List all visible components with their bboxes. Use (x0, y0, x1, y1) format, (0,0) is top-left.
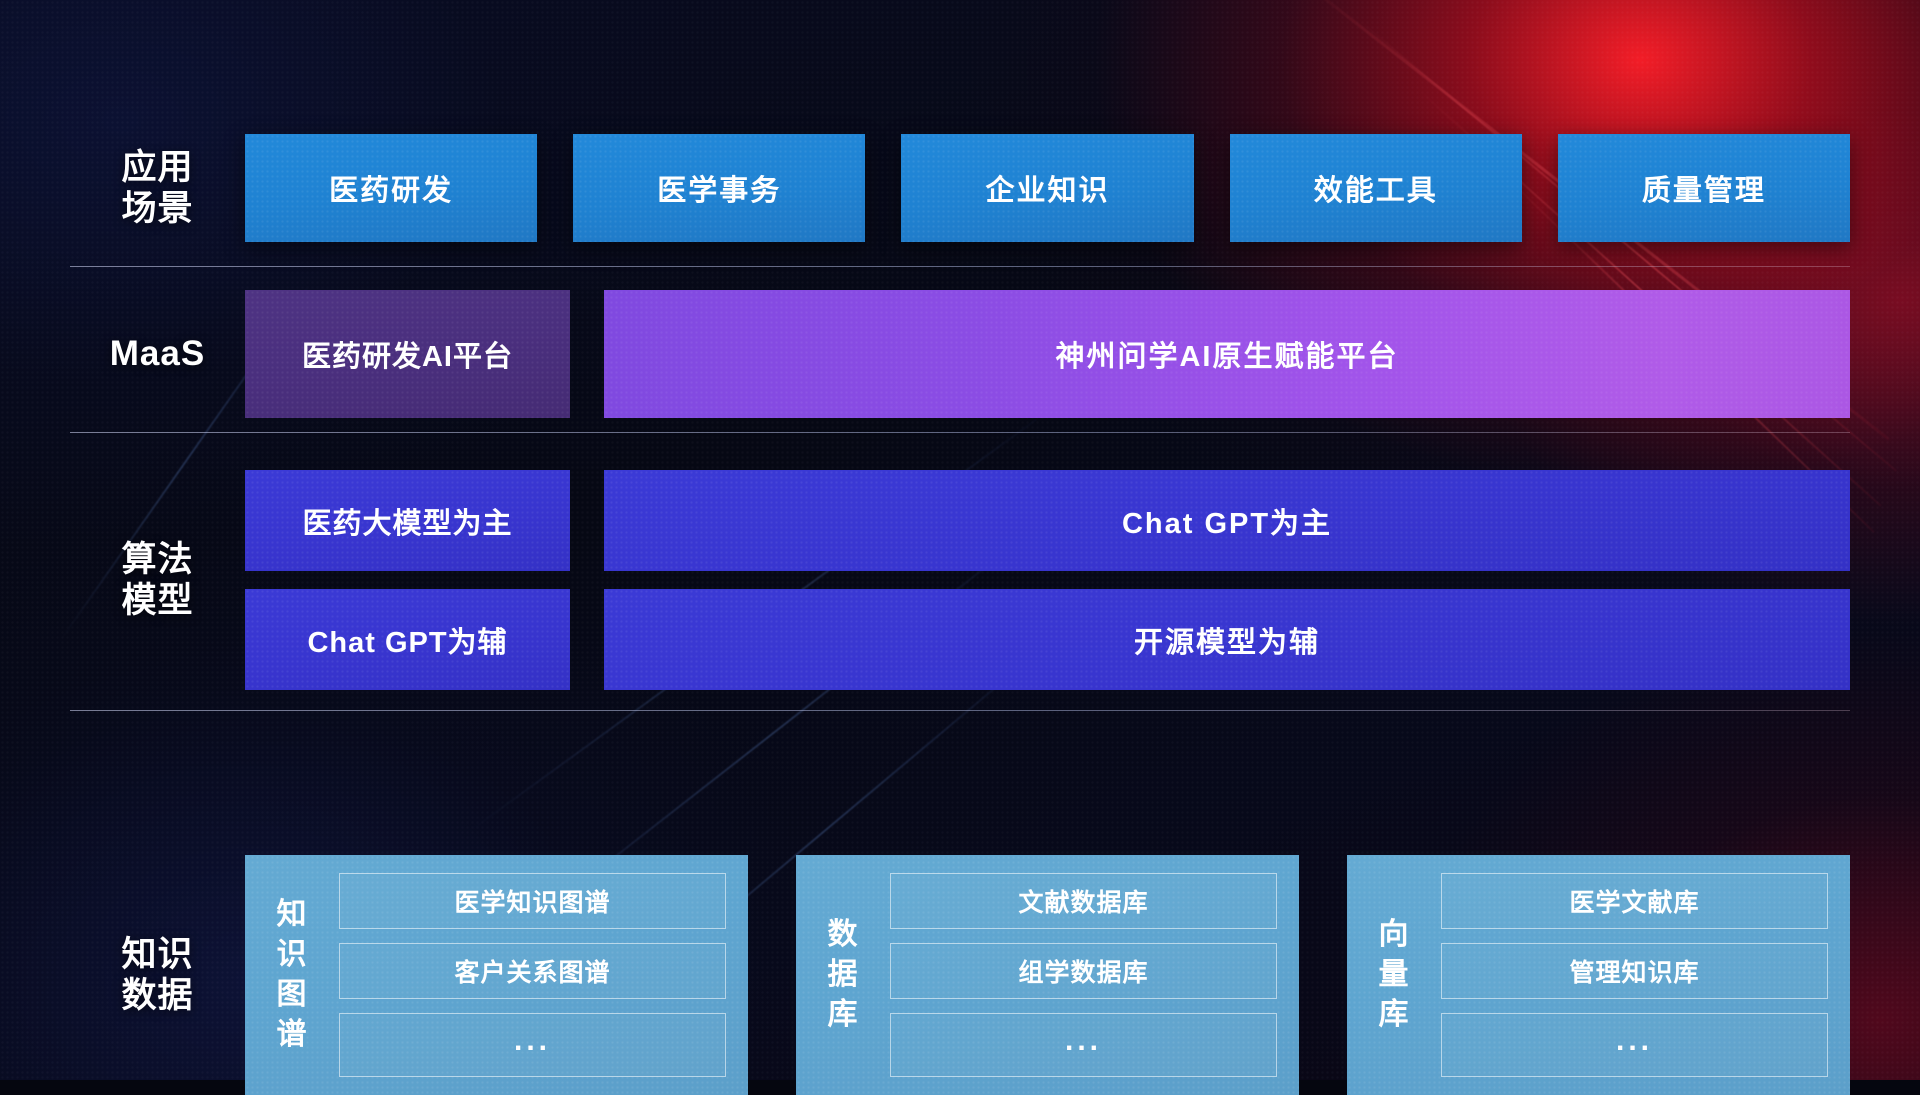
knowledge-item[interactable]: 客户关系图谱 (339, 943, 726, 999)
knowledge-item-list: 文献数据库 组学数据库 ... (890, 873, 1277, 1077)
app-card-drug-rd[interactable]: 医药研发 (245, 134, 537, 242)
knowledge-item-label: 管理知识库 (1569, 953, 1699, 989)
knowledge-item-label: 文献数据库 (1018, 883, 1148, 919)
knowledge-item-label: 组学数据库 (1018, 953, 1148, 989)
row-algorithm-models: 算法 模型 医药大模型为主 Chat GPT为主 Chat GPT为辅 开源模型… (0, 460, 1920, 700)
divider-maas-algo (70, 432, 1850, 433)
knowledge-group-database: 数据库 文献数据库 组学数据库 ... (796, 855, 1299, 1095)
knowledge-item-label: 客户关系图谱 (454, 953, 610, 989)
knowledge-group-vector-store: 向量库 医学文献库 管理知识库 ... (1347, 855, 1850, 1095)
knowledge-group-title: 知识图谱 (263, 895, 321, 1056)
row-label-algorithm-models: 算法 模型 (70, 539, 245, 622)
knowledge-item-label: 医学文献库 (1569, 883, 1699, 919)
app-card-enterprise-knowledge[interactable]: 企业知识 (901, 134, 1193, 242)
knowledge-item-label: 医学知识图谱 (454, 883, 610, 919)
knowledge-item-more[interactable]: ... (1441, 1013, 1828, 1077)
app-card-label: 效能工具 (1314, 167, 1438, 209)
knowledge-item-more[interactable]: ... (890, 1013, 1277, 1077)
knowledge-item-more[interactable]: ... (339, 1013, 726, 1077)
maas-card-drug-rd-ai-platform[interactable]: 医药研发AI平台 (245, 290, 570, 418)
maas-grid: 医药研发AI平台 神州问学AI原生赋能平台 (245, 290, 1850, 418)
algo-card-chatgpt-secondary[interactable]: Chat GPT为辅 (245, 589, 570, 690)
algorithm-row-primary: 医药大模型为主 Chat GPT为主 (245, 470, 1850, 571)
knowledge-item-list: 医学文献库 管理知识库 ... (1441, 873, 1828, 1077)
maas-card-label: 医药研发AI平台 (302, 333, 513, 375)
algo-card-label: 开源模型为辅 (1134, 619, 1320, 661)
maas-card-label: 神州问学AI原生赋能平台 (1055, 333, 1398, 375)
divider-algo-knowledge (70, 710, 1850, 711)
algo-card-pharma-llm-primary[interactable]: 医药大模型为主 (245, 470, 570, 571)
knowledge-item[interactable]: 医学文献库 (1441, 873, 1828, 929)
row-label-maas: MaaS (70, 333, 245, 374)
knowledge-group-grid: 知识图谱 医学知识图谱 客户关系图谱 ... 数据库 文献数据库 组学数据库 .… (245, 855, 1850, 1095)
knowledge-group-title: 数据库 (814, 915, 872, 1036)
knowledge-group-knowledge-graph: 知识图谱 医学知识图谱 客户关系图谱 ... (245, 855, 748, 1095)
algo-card-label: 医药大模型为主 (302, 500, 512, 542)
knowledge-item[interactable]: 管理知识库 (1441, 943, 1828, 999)
knowledge-item-list: 医学知识图谱 客户关系图谱 ... (339, 873, 726, 1077)
knowledge-item-label: ... (1616, 1024, 1653, 1058)
divider-apps-maas (70, 266, 1850, 267)
algo-card-opensource-secondary[interactable]: 开源模型为辅 (604, 589, 1850, 690)
app-card-medical-affairs[interactable]: 医学事务 (573, 134, 865, 242)
knowledge-item[interactable]: 文献数据库 (890, 873, 1277, 929)
application-card-grid: 医药研发 医学事务 企业知识 效能工具 质量管理 (245, 134, 1850, 242)
knowledge-item-label: ... (514, 1024, 551, 1058)
knowledge-group-title: 向量库 (1365, 915, 1423, 1036)
app-card-label: 医药研发 (329, 167, 453, 209)
knowledge-item[interactable]: 医学知识图谱 (339, 873, 726, 929)
row-knowledge-data: 知识 数据 知识图谱 医学知识图谱 客户关系图谱 ... 数据库 文献数据库 组… (0, 855, 1920, 1095)
app-card-label: 企业知识 (986, 167, 1110, 209)
row-label-knowledge-data: 知识 数据 (70, 934, 245, 1017)
app-card-efficiency-tools[interactable]: 效能工具 (1230, 134, 1522, 242)
algo-card-label: Chat GPT为主 (1122, 500, 1332, 542)
algo-card-label: Chat GPT为辅 (307, 619, 507, 661)
row-label-application-scenarios: 应用 场景 (70, 147, 245, 230)
algorithm-row-secondary: Chat GPT为辅 开源模型为辅 (245, 589, 1850, 690)
app-card-label: 质量管理 (1642, 167, 1766, 209)
algo-card-chatgpt-primary[interactable]: Chat GPT为主 (604, 470, 1850, 571)
knowledge-item[interactable]: 组学数据库 (890, 943, 1277, 999)
algorithm-grid: 医药大模型为主 Chat GPT为主 Chat GPT为辅 开源模型为辅 (245, 470, 1850, 690)
row-application-scenarios: 应用 场景 医药研发 医学事务 企业知识 效能工具 质量管理 (0, 128, 1920, 248)
app-card-quality-management[interactable]: 质量管理 (1558, 134, 1850, 242)
row-maas: MaaS 医药研发AI平台 神州问学AI原生赋能平台 (0, 290, 1920, 418)
app-card-label: 医学事务 (657, 167, 781, 209)
maas-card-shenzhou-wenxue-platform[interactable]: 神州问学AI原生赋能平台 (604, 290, 1850, 418)
knowledge-item-label: ... (1065, 1024, 1102, 1058)
